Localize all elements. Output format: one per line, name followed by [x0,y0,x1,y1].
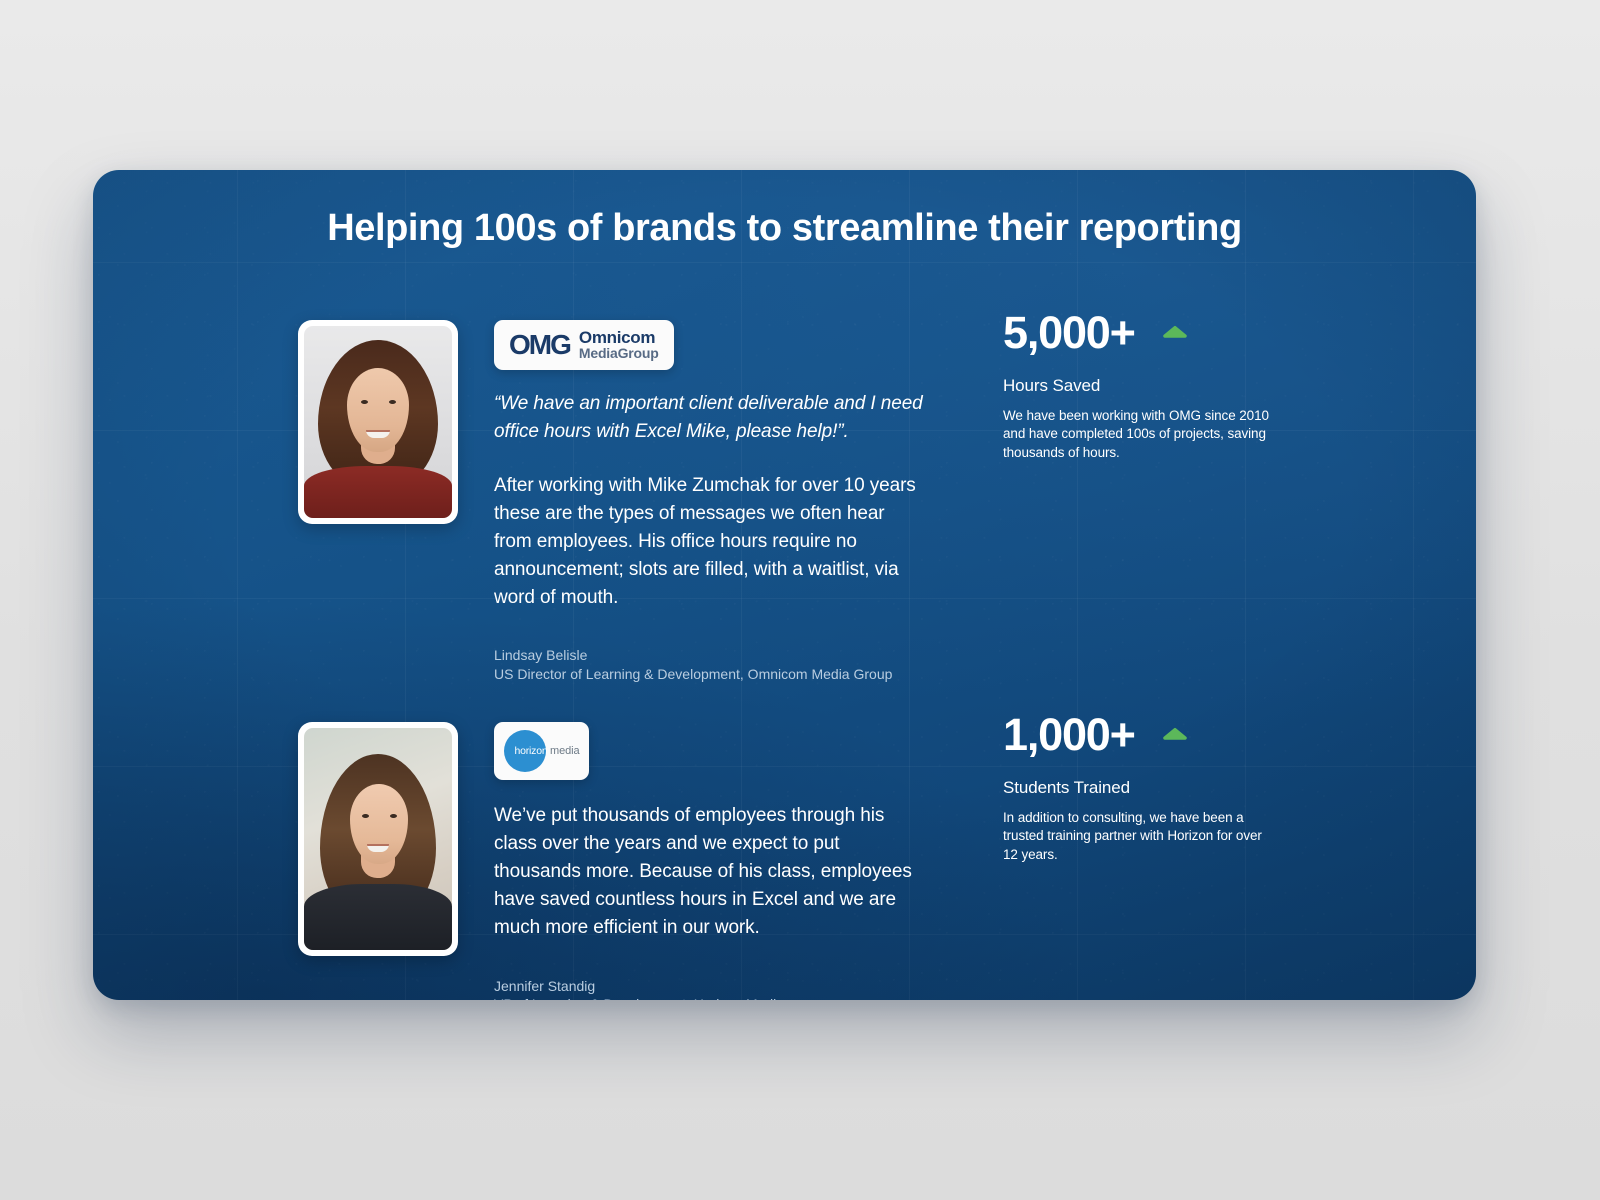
testimonial-attribution: Jennifer Standig VP of Learning & Develo… [494,977,924,1000]
portrait-photo-jennifer-standig [304,728,452,950]
testimonial-attribution: Lindsay Belisle US Director of Learning … [494,646,924,683]
page-stage: Helping 100s of brands to streamline the… [0,0,1600,1200]
stat-value: 5,000+ [1003,310,1135,355]
stat-label: Students Trained [1003,778,1303,798]
triangle-up-icon [1161,725,1189,748]
testimonials-card: Helping 100s of brands to streamline the… [93,170,1476,1000]
omg-mark: OMG [509,331,570,359]
testimonial-pull-quote: “We have an important client deliverable… [494,390,924,446]
author-name: Jennifer Standig [494,977,924,995]
stat-value: 1,000+ [1003,712,1135,757]
horizon-media-logo: horizon media [494,722,589,780]
author-name: Lindsay Belisle [494,646,924,664]
testimonial-row-horizon: horizon media We’ve put thousands of emp… [298,722,924,1000]
horizon-circle-icon: horizon [504,730,546,772]
testimonial-body: We’ve put thousands of employees through… [494,802,924,943]
stat-description: In addition to consulting, we have been … [1003,809,1278,864]
omg-logo-line1: Omnicom [579,329,659,346]
stat-description: We have been working with OMG since 2010… [1003,407,1278,462]
stat-label: Hours Saved [1003,376,1303,396]
author-role: VP of Learning & Development, Horizon Me… [494,995,924,1000]
omg-logo-line2: MediaGroup [579,346,659,360]
testimonial-text-horizon: horizon media We’ve put thousands of emp… [494,722,924,1000]
page-title: Helping 100s of brands to streamline the… [93,207,1476,250]
testimonial-row-omnicom: OMG Omnicom MediaGroup “We have an impor… [298,320,924,683]
stat-students-trained: 1,000+ Students Trained In addition to c… [1003,712,1303,864]
avatar [298,722,458,956]
author-role: US Director of Learning & Development, O… [494,665,924,683]
testimonial-text-omnicom: OMG Omnicom MediaGroup “We have an impor… [494,320,924,683]
omnicom-media-group-logo: OMG Omnicom MediaGroup [494,320,674,370]
triangle-up-icon [1161,323,1189,346]
avatar [298,320,458,524]
portrait-photo-lindsay-belisle [304,326,452,518]
horizon-logo-word: horizon [514,745,547,757]
testimonial-body: After working with Mike Zumchak for over… [494,472,924,613]
stat-hours-saved: 5,000+ Hours Saved We have been working … [1003,310,1303,462]
